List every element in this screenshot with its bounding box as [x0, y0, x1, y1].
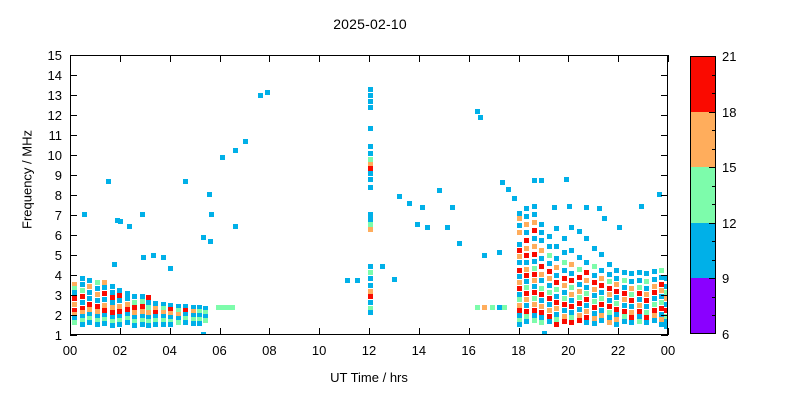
data-point: [622, 291, 627, 296]
data-point: [569, 285, 574, 290]
x-tick-label: 14: [399, 344, 439, 357]
data-point: [197, 321, 202, 326]
data-point: [577, 307, 582, 312]
data-point: [599, 296, 604, 301]
data-point: [233, 148, 238, 153]
colorbar-tick-label: 12: [722, 217, 748, 230]
data-point: [592, 273, 597, 278]
data-point: [542, 331, 547, 336]
data-point: [607, 286, 612, 291]
data-point: [562, 296, 567, 301]
data-point: [562, 283, 567, 288]
data-point: [524, 273, 529, 278]
x-tick-top: [120, 55, 121, 62]
data-point: [569, 320, 574, 325]
data-point: [532, 296, 537, 301]
data-point: [524, 303, 529, 308]
y-tick-label: 9: [14, 169, 62, 182]
x-tick: [469, 328, 470, 335]
x-tick: [319, 328, 320, 335]
data-point: [445, 225, 450, 230]
x-tick: [269, 328, 270, 335]
data-point: [532, 278, 537, 283]
data-point: [569, 262, 574, 267]
data-point: [607, 320, 612, 325]
data-point: [569, 278, 574, 283]
y-tick: [70, 135, 77, 136]
data-point: [637, 291, 642, 296]
data-point: [141, 255, 146, 260]
data-point: [95, 280, 100, 285]
data-point: [664, 276, 668, 281]
data-point: [554, 256, 559, 261]
data-point: [517, 242, 522, 247]
x-tick-label: 04: [150, 344, 190, 357]
data-point: [644, 320, 649, 325]
data-point: [607, 279, 612, 284]
data-point: [258, 93, 263, 98]
data-point: [644, 279, 649, 284]
data-point: [243, 139, 248, 144]
data-point: [584, 205, 589, 210]
data-point: [117, 298, 122, 303]
y-tick-right: [661, 215, 668, 216]
data-point: [554, 244, 559, 249]
data-point: [345, 278, 350, 283]
data-point: [125, 296, 130, 301]
data-point: [577, 295, 582, 300]
data-point: [614, 268, 619, 273]
colorbar-tick-label: 6: [722, 328, 748, 341]
data-point: [191, 321, 196, 326]
y-tick: [70, 315, 77, 316]
y-tick-right: [661, 235, 668, 236]
data-point: [622, 270, 627, 275]
data-point: [220, 155, 225, 160]
data-point: [532, 252, 537, 257]
y-tick-right: [661, 115, 668, 116]
data-point: [72, 290, 77, 295]
data-point: [80, 276, 85, 281]
data-point: [562, 236, 567, 241]
data-point: [368, 144, 373, 149]
data-point: [490, 305, 495, 310]
data-point: [547, 276, 552, 281]
y-tick: [70, 275, 77, 276]
data-point: [599, 318, 604, 323]
colorbar-band: [691, 223, 715, 278]
data-point: [547, 296, 552, 301]
data-point: [397, 194, 402, 199]
data-point: [554, 300, 559, 305]
data-point: [368, 87, 373, 92]
data-point: [72, 296, 77, 301]
y-tick-label: 11: [14, 129, 62, 142]
plot-area: [70, 55, 668, 335]
y-tick-right: [661, 155, 668, 156]
colorbar-tick-label: 21: [722, 50, 748, 63]
data-point: [622, 285, 627, 290]
data-point: [562, 268, 567, 273]
data-point: [652, 302, 657, 307]
data-point: [554, 306, 559, 311]
data-point: [592, 293, 597, 298]
colorbar-minor-tick: [712, 130, 716, 131]
colorbar-tick-label: 18: [722, 106, 748, 119]
data-point: [569, 304, 574, 309]
y-tick: [70, 195, 77, 196]
data-point: [664, 290, 668, 295]
data-point: [547, 234, 552, 239]
data-point: [524, 285, 529, 290]
data-point: [622, 297, 627, 302]
data-point: [644, 286, 649, 291]
x-tick: [419, 328, 420, 335]
data-point: [478, 115, 483, 120]
data-point: [614, 295, 619, 300]
data-point: [475, 109, 480, 114]
data-point: [132, 323, 137, 328]
y-tick-right: [661, 195, 668, 196]
colorbar-band: [691, 278, 715, 333]
data-point: [664, 302, 668, 307]
data-point: [637, 319, 642, 324]
data-point: [599, 268, 604, 273]
data-point: [569, 225, 574, 230]
x-tick: [70, 328, 71, 335]
data-point: [532, 259, 537, 264]
data-point: [554, 322, 559, 327]
data-point: [629, 298, 634, 303]
data-point: [117, 322, 122, 327]
data-point: [562, 308, 567, 313]
y-tick-label: 6: [14, 229, 62, 242]
data-point: [607, 292, 612, 297]
colorbar: [690, 56, 716, 334]
data-point: [592, 280, 597, 285]
data-point: [539, 230, 544, 235]
x-tick-label: 00: [648, 344, 688, 357]
data-point: [517, 230, 522, 235]
data-point: [599, 252, 604, 257]
data-point: [584, 297, 589, 302]
colorbar-minor-tick: [712, 315, 716, 316]
data-point: [517, 268, 522, 273]
data-point: [562, 319, 567, 324]
data-point: [652, 284, 657, 289]
data-point: [368, 270, 373, 275]
x-tick-label: 12: [349, 344, 389, 357]
data-point: [524, 222, 529, 227]
data-point: [475, 305, 480, 310]
y-tick-label: 5: [14, 249, 62, 262]
data-point: [562, 260, 567, 265]
data-point: [153, 322, 158, 327]
data-point: [380, 264, 385, 269]
data-point: [368, 283, 373, 288]
data-point: [368, 300, 373, 305]
data-point: [592, 299, 597, 304]
data-point: [517, 254, 522, 259]
data-point: [637, 270, 642, 275]
data-point: [562, 276, 567, 281]
data-point: [532, 212, 537, 217]
data-point: [592, 246, 597, 251]
colorbar-tick-label: 15: [722, 161, 748, 174]
data-point: [652, 318, 657, 323]
data-point: [659, 268, 664, 273]
data-point: [664, 296, 668, 301]
data-point: [577, 255, 582, 260]
data-point: [82, 212, 87, 217]
data-point: [482, 305, 487, 310]
data-point: [629, 286, 634, 291]
data-point: [87, 278, 92, 283]
colorbar-minor-tick: [712, 204, 716, 205]
y-tick: [70, 75, 77, 76]
data-point: [524, 297, 529, 302]
data-point: [637, 303, 642, 308]
y-tick-label: 4: [14, 269, 62, 282]
data-point: [629, 292, 634, 297]
data-point: [110, 284, 115, 289]
data-point: [547, 290, 552, 295]
data-point: [554, 280, 559, 285]
x-tick: [618, 328, 619, 335]
data-point: [415, 222, 420, 227]
data-point: [584, 260, 589, 265]
x-tick-label: 08: [249, 344, 289, 357]
data-point: [539, 178, 544, 183]
data-point: [102, 297, 107, 302]
y-tick: [70, 255, 77, 256]
data-point: [607, 272, 612, 277]
data-point: [577, 289, 582, 294]
data-point: [95, 292, 100, 297]
data-point: [562, 302, 567, 307]
data-point: [524, 206, 529, 211]
y-tick: [70, 55, 77, 56]
data-point: [614, 282, 619, 287]
y-tick-right: [661, 255, 668, 256]
data-point: [425, 225, 430, 230]
data-point: [629, 320, 634, 325]
data-point: [512, 196, 517, 201]
data-point: [140, 212, 145, 217]
x-tick: [369, 328, 370, 335]
x-tick: [220, 328, 221, 335]
data-point: [183, 179, 188, 184]
data-point: [524, 214, 529, 219]
data-point: [644, 292, 649, 297]
data-point: [87, 296, 92, 301]
y-tick-right: [661, 55, 668, 56]
data-point: [87, 284, 92, 289]
data-point: [524, 260, 529, 265]
data-point: [562, 290, 567, 295]
data-point: [201, 235, 206, 240]
x-tick-top: [170, 55, 171, 62]
data-point: [554, 273, 559, 278]
data-point: [539, 292, 544, 297]
data-point: [532, 178, 537, 183]
colorbar-minor-tick: [712, 186, 716, 187]
x-tick-top: [70, 55, 71, 62]
data-point: [532, 220, 537, 225]
data-point: [420, 205, 425, 210]
data-point: [112, 262, 117, 267]
data-point: [547, 261, 552, 266]
data-point: [652, 269, 657, 274]
data-point: [629, 304, 634, 309]
data-point: [524, 267, 529, 272]
data-point: [532, 228, 537, 233]
colorbar-tick: [709, 278, 716, 279]
data-point: [524, 291, 529, 296]
data-point: [368, 99, 373, 104]
x-tick-label: 02: [100, 344, 140, 357]
data-point: [102, 291, 107, 296]
data-point: [168, 322, 173, 327]
data-point: [517, 274, 522, 279]
y-tick: [70, 215, 77, 216]
y-tick-label: 14: [14, 69, 62, 82]
data-point: [161, 322, 166, 327]
data-point: [146, 323, 151, 328]
data-point: [644, 298, 649, 303]
data-point: [547, 269, 552, 274]
x-tick-top: [220, 55, 221, 62]
colorbar-tick: [709, 167, 716, 168]
x-tick-label: 22: [598, 344, 638, 357]
x-tick-top: [618, 55, 619, 62]
data-point: [80, 288, 85, 293]
data-point: [161, 255, 166, 260]
data-point: [110, 323, 115, 328]
data-point: [554, 265, 559, 270]
data-point: [554, 287, 559, 292]
data-point: [125, 320, 130, 325]
data-point: [183, 320, 188, 325]
data-point: [532, 272, 537, 277]
data-point: [577, 282, 582, 287]
x-tick-label: 16: [449, 344, 489, 357]
data-point: [457, 241, 462, 246]
data-point: [629, 279, 634, 284]
data-point: [118, 219, 123, 224]
data-point: [201, 332, 206, 336]
y-tick-right: [661, 95, 668, 96]
x-tick-label: 06: [200, 344, 240, 357]
data-point: [564, 177, 569, 182]
y-tick-right: [661, 75, 668, 76]
y-tick-label: 7: [14, 209, 62, 222]
x-tick-label: 18: [499, 344, 539, 357]
data-point: [532, 302, 537, 307]
y-tick-label: 13: [14, 89, 62, 102]
data-point: [652, 296, 657, 301]
data-point: [539, 238, 544, 243]
data-point: [577, 229, 582, 234]
y-tick-label: 10: [14, 149, 62, 162]
data-point: [614, 301, 619, 306]
data-point: [652, 290, 657, 295]
colorbar-minor-tick: [712, 75, 716, 76]
data-point: [95, 298, 100, 303]
data-point: [577, 318, 582, 323]
data-point: [664, 308, 668, 313]
data-point: [639, 204, 644, 209]
data-point: [622, 319, 627, 324]
data-point: [355, 278, 360, 283]
data-point: [629, 271, 634, 276]
data-point: [392, 277, 397, 282]
data-point: [72, 302, 77, 307]
data-point: [614, 289, 619, 294]
data-point: [524, 246, 529, 251]
colorbar-minor-tick: [712, 297, 716, 298]
data-point: [547, 319, 552, 324]
data-point: [368, 264, 373, 269]
x-tick-top: [668, 55, 669, 62]
x-tick-top: [369, 55, 370, 62]
data-point: [607, 304, 612, 309]
data-point: [539, 286, 544, 291]
colorbar-band: [691, 57, 715, 112]
data-point: [602, 216, 607, 221]
data-point: [577, 267, 582, 272]
data-point: [562, 250, 567, 255]
data-point: [584, 270, 589, 275]
x-tick-label: 00: [50, 344, 90, 357]
data-point: [80, 294, 85, 299]
y-tick-label: 2: [14, 309, 62, 322]
data-point: [265, 90, 270, 95]
data-point: [584, 278, 589, 283]
data-point: [524, 238, 529, 243]
data-point: [584, 285, 589, 290]
data-point: [517, 216, 522, 221]
data-point: [106, 179, 111, 184]
data-point: [524, 230, 529, 235]
data-point: [497, 250, 502, 255]
data-point: [517, 297, 522, 302]
data-point: [524, 279, 529, 284]
data-point: [176, 320, 181, 325]
data-point: [208, 239, 213, 244]
data-point: [577, 301, 582, 306]
data-point: [80, 300, 85, 305]
x-tick-top: [469, 55, 470, 62]
data-point: [72, 320, 77, 325]
data-point: [517, 286, 522, 291]
colorbar-tick-label: 9: [722, 272, 748, 285]
data-point: [368, 93, 373, 98]
data-point: [599, 283, 604, 288]
colorbar-minor-tick: [712, 241, 716, 242]
data-point: [102, 285, 107, 290]
y-tick: [70, 95, 77, 96]
x-tick-label: 10: [299, 344, 339, 357]
y-tick-label: 1: [14, 329, 62, 342]
data-point: [102, 321, 107, 326]
data-point: [80, 282, 85, 287]
y-tick-right: [661, 275, 668, 276]
data-point: [644, 271, 649, 276]
data-point: [502, 305, 507, 310]
x-tick: [120, 328, 121, 335]
data-point: [622, 278, 627, 283]
